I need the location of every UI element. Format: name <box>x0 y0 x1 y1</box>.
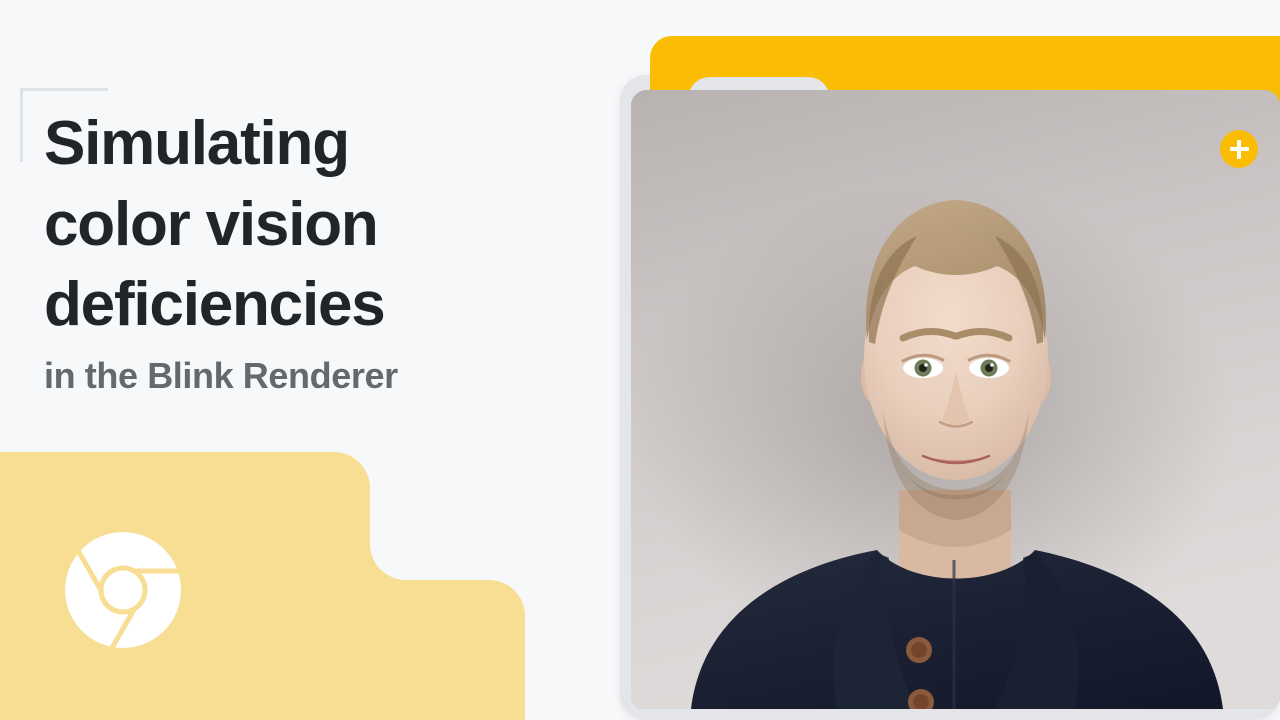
video-frame[interactable] <box>631 90 1280 709</box>
plus-icon-vertical <box>1237 140 1241 159</box>
page-title: Simulating color vision deficiencies <box>44 104 584 346</box>
chrome-logo-icon <box>64 531 182 649</box>
video-card[interactable] <box>610 36 1280 706</box>
chrome-logo <box>64 531 182 649</box>
page-subtitle: in the Blink Renderer <box>44 354 584 398</box>
slide-canvas: Simulating color vision deficiencies in … <box>0 0 1280 720</box>
add-button[interactable] <box>1220 130 1258 168</box>
title-column: Simulating color vision deficiencies in … <box>0 0 600 720</box>
title-block: Simulating color vision deficiencies in … <box>44 104 584 398</box>
presenter-headshot-image <box>631 90 1280 709</box>
